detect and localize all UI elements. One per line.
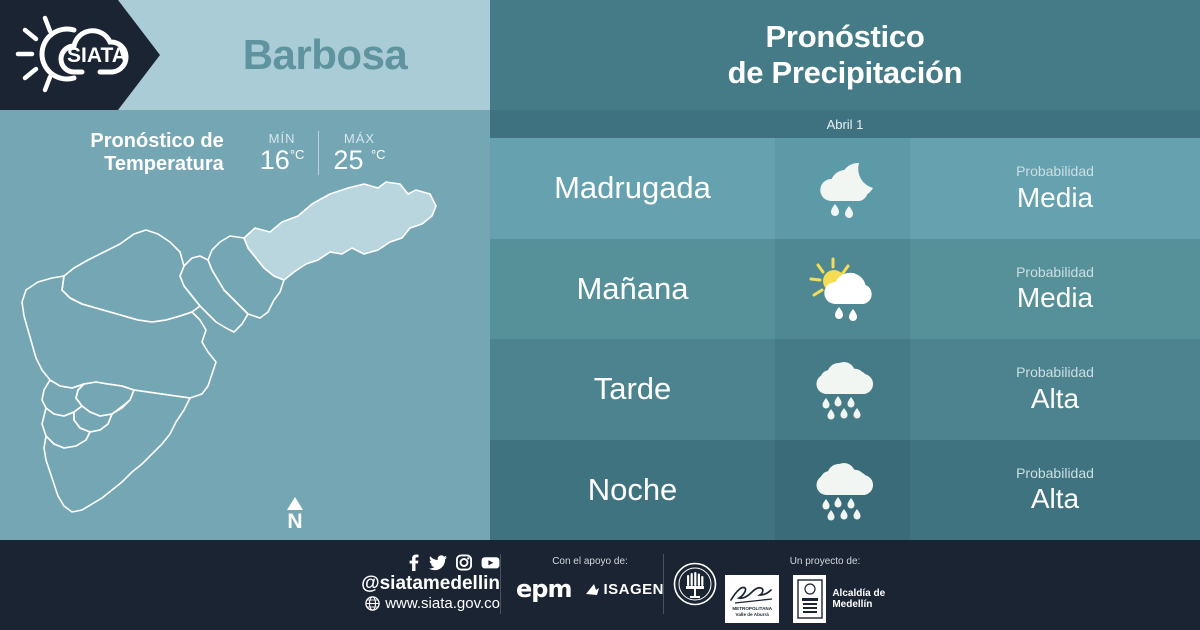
valley-map: N xyxy=(12,172,478,534)
isagen-text: ISAGEN xyxy=(603,581,664,598)
weather-icon-cell xyxy=(775,138,910,239)
moon-cloud-rain-icon xyxy=(807,157,879,219)
facebook-icon[interactable] xyxy=(407,554,420,571)
table-row[interactable]: Tarde Pro xyxy=(490,339,1200,440)
sun-cloud-rain-icon xyxy=(805,257,881,321)
cloud-heavy-rain-icon xyxy=(806,356,880,422)
forecast-title-line2: de Precipitación xyxy=(728,55,963,91)
table-row[interactable]: Mañana Probabilidad xyxy=(490,239,1200,340)
map-region-caldas[interactable] xyxy=(44,390,190,512)
map-panel: Pronóstico de Temperatura MÍN 16°C MÁX 2… xyxy=(0,110,490,540)
forecast-title-line1: Pronóstico xyxy=(766,19,925,55)
probability-label: Probabilidad xyxy=(1016,464,1094,482)
temperature-min-label: MÍN xyxy=(269,131,296,146)
probability-value: Alta xyxy=(1031,382,1079,416)
temperature-values: MÍN 16°C MÁX 25 °C xyxy=(246,131,400,176)
social-block: @siatamedellin www.siata.gov.co xyxy=(300,554,500,612)
map-region-envigado[interactable] xyxy=(76,382,134,416)
header: SIATA Barbosa Pronóstico de Precipitació… xyxy=(0,0,1200,110)
area-metropolitana-logo[interactable]: METROPOLITANA Valle de Aburrá xyxy=(725,575,779,623)
temperature-title: Pronóstico de Temperatura xyxy=(90,130,223,176)
website-text: www.siata.gov.co xyxy=(385,595,500,612)
unal-seal-block xyxy=(672,562,717,606)
header-left-panel: SIATA Barbosa xyxy=(0,0,490,110)
area-line2: Valle de Aburrá xyxy=(732,612,772,618)
probability-label: Probabilidad xyxy=(1016,263,1094,281)
map-region-bello[interactable] xyxy=(62,230,200,322)
weather-icon-cell xyxy=(775,239,910,340)
globe-icon xyxy=(365,596,380,611)
map-region-medellin[interactable] xyxy=(22,276,216,398)
cloud-heavy-rain-icon xyxy=(806,457,880,523)
footer-divider xyxy=(500,554,501,614)
table-row[interactable]: Madrugada Probabilidad Media xyxy=(490,138,1200,239)
footer: @siatamedellin www.siata.gov.co Con el a… xyxy=(0,540,1200,630)
website-line[interactable]: www.siata.gov.co xyxy=(365,595,500,612)
temperature-max-label: MÁX xyxy=(344,131,375,146)
social-handle[interactable]: @siatamedellin xyxy=(361,573,500,595)
sun-cloud-icon: SIATA xyxy=(12,10,140,98)
max-unit: °C xyxy=(371,147,386,162)
logo-wedge: SIATA xyxy=(0,0,160,110)
forecast-date: Abril 1 xyxy=(490,110,1200,138)
footer-divider xyxy=(663,554,664,614)
alcaldia-label: Alcaldía de Medellín xyxy=(832,588,925,610)
probability-cell: Probabilidad Alta xyxy=(910,440,1200,541)
unal-seal-icon[interactable] xyxy=(673,562,717,606)
probability-value: Media xyxy=(1017,281,1093,315)
isagen-logo[interactable]: ISAGEN xyxy=(585,581,664,598)
support-logos: epm ISAGEN xyxy=(516,575,664,603)
instagram-icon[interactable] xyxy=(456,554,472,571)
infographic-root: SIATA Barbosa Pronóstico de Precipitació… xyxy=(0,0,1200,630)
temperature-max-value: 25 °C xyxy=(333,146,385,176)
period-label: Madrugada xyxy=(490,138,775,239)
page-title: Barbosa xyxy=(160,0,490,110)
alcaldia-logo[interactable]: Alcaldía de Medellín xyxy=(793,575,925,623)
temperature-min: MÍN 16°C xyxy=(246,131,320,176)
project-logos: METROPOLITANA Valle de Aburrá Alcaldía d… xyxy=(725,575,925,623)
probability-label: Probabilidad xyxy=(1016,162,1094,180)
isagen-mark-icon xyxy=(585,582,600,597)
alcaldia-crest-icon xyxy=(796,578,824,620)
epm-logo[interactable]: epm xyxy=(516,575,571,603)
temperature-min-value: 16°C xyxy=(260,146,305,176)
social-icons xyxy=(407,554,500,571)
probability-cell: Probabilidad Alta xyxy=(910,339,1200,440)
probability-label: Probabilidad xyxy=(1016,363,1094,381)
area-sublabel: METROPOLITANA Valle de Aburrá xyxy=(732,606,772,617)
weather-icon-cell xyxy=(775,440,910,541)
period-label: Tarde xyxy=(490,339,775,440)
probability-cell: Probabilidad Media xyxy=(910,239,1200,340)
map-svg xyxy=(12,172,478,534)
temperature-title-line1: Pronóstico de xyxy=(90,130,223,153)
period-label: Mañana xyxy=(490,239,775,340)
north-label: N xyxy=(287,511,303,532)
support-caption: Con el apoyo de: xyxy=(552,556,628,567)
table-row[interactable]: Noche Pro xyxy=(490,440,1200,541)
temperature-max: MÁX 25 °C xyxy=(319,131,399,176)
max-number: 25 xyxy=(333,145,363,175)
min-number: 16 xyxy=(260,145,290,175)
min-unit: °C xyxy=(290,147,305,162)
project-caption: Un proyecto de: xyxy=(790,556,861,567)
map-region-barbosa[interactable] xyxy=(244,182,436,280)
youtube-icon[interactable] xyxy=(481,554,500,571)
probability-value: Alta xyxy=(1031,482,1079,516)
north-indicator: N xyxy=(287,497,303,532)
north-arrow-icon xyxy=(287,497,303,510)
weather-icon-cell xyxy=(775,339,910,440)
period-label: Noche xyxy=(490,440,775,541)
logo-text: SIATA xyxy=(67,44,127,67)
probability-cell: Probabilidad Media xyxy=(910,138,1200,239)
area-script-icon xyxy=(727,580,777,606)
header-right-panel: Pronóstico de Precipitación xyxy=(490,0,1200,110)
probability-value: Media xyxy=(1017,181,1093,215)
twitter-icon[interactable] xyxy=(429,554,447,571)
support-block: Con el apoyo de: epm ISAGEN xyxy=(515,556,665,603)
forecast-table: Madrugada Probabilidad Media Mañana xyxy=(490,138,1200,540)
project-block: Un proyecto de: METROPOLITANA Valle de A… xyxy=(725,556,925,623)
